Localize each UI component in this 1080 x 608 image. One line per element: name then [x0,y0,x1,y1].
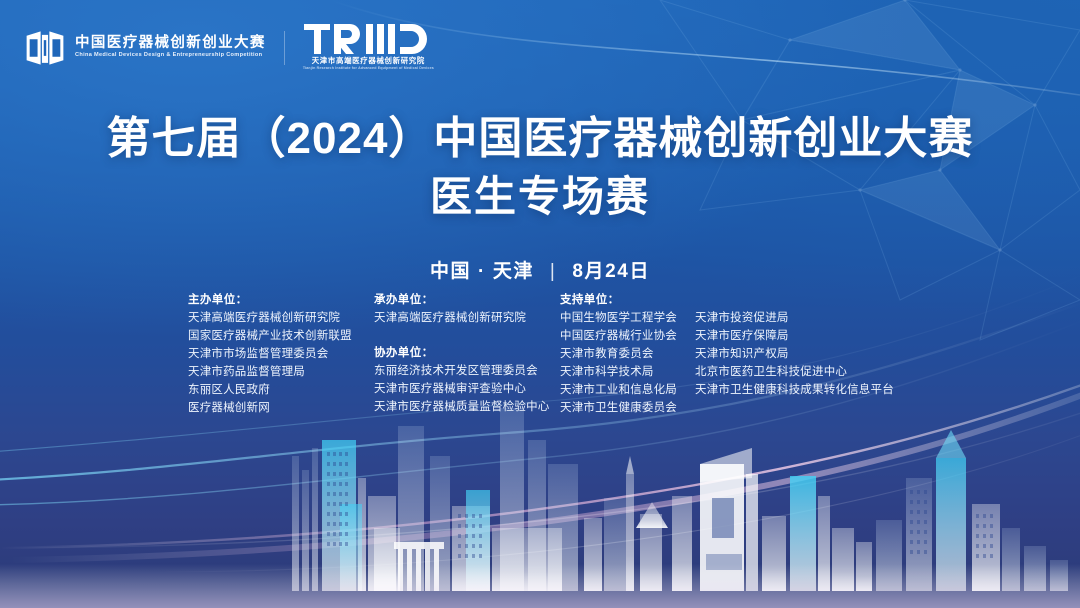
dateline-date: 8月24日 [572,261,650,282]
organizer-item: 天津市工业和信息化局 [560,381,695,399]
organizer-group: 承办单位： 天津高端医疗器械创新研究院 [374,291,560,327]
organizer-heading: 主办单位： [188,291,374,309]
title-line-1: 第七届（2024）中国医疗器械创新创业大赛 [0,112,1080,166]
organizer-group: 天津市投资促进局 天津市医疗保障局 天津市知识产权局 北京市医药卫生科技促进中心… [695,291,894,399]
organizer-heading-spacer [695,291,894,309]
organizer-item: 东丽经济技术开发区管理委员会 [374,362,560,380]
organizer-item: 天津高端医疗器械创新研究院 [374,309,560,327]
organizer-item: 天津市卫生健康科技成果转化信息平台 [695,381,894,399]
organizer-item: 天津市知识产权局 [695,345,894,363]
organizer-item: 天津市市场监督管理委员会 [188,345,374,363]
poster-canvas: 中国医疗器械创新创业大赛 China Medical Devices Desig… [0,0,1080,608]
open-door-book-icon [24,27,66,69]
logo-primary-en: China Medical Devices Design & Entrepren… [75,53,266,59]
organizer-item: 中国生物医学工程学会 [560,309,695,327]
organizer-column-2: 承办单位： 天津高端医疗器械创新研究院 协办单位： 东丽经济技术开发区管理委员会… [374,291,560,416]
organizer-item: 医疗器械创新网 [188,399,374,417]
organizer-column-1: 主办单位： 天津高端医疗器械创新研究院 国家医疗器械产业技术创新联盟 天津市市场… [188,291,374,417]
logo-divider [284,31,285,65]
dateline-location: 中国 · 天津 [430,261,534,282]
organizer-item: 天津市教育委员会 [560,345,695,363]
logo-secondary-cn: 天津市高端医疗器械创新研究院 [312,57,425,64]
triid-wordmark-icon [304,24,432,54]
organizer-item: 天津市医疗保障局 [695,327,894,345]
organizers-block: 主办单位： 天津高端医疗器械创新研究院 国家医疗器械产业技术创新联盟 天津市市场… [188,291,894,417]
organizer-column-3: 支持单位： 中国生物医学工程学会 中国医疗器械行业协会 天津市教育委员会 天津市… [560,291,695,417]
organizer-group: 主办单位： 天津高端医疗器械创新研究院 国家医疗器械产业技术创新联盟 天津市市场… [188,291,374,417]
organizer-item: 北京市医药卫生科技促进中心 [695,363,894,381]
organizer-item: 天津市药品监督管理局 [188,363,374,381]
logo-primary-cn: 中国医疗器械创新创业大赛 [75,36,266,51]
dateline-separator: | [550,261,557,283]
organizer-heading: 支持单位： [560,291,695,309]
organizer-item: 天津高端医疗器械创新研究院 [188,309,374,327]
organizer-item: 中国医疗器械行业协会 [560,327,695,345]
logo-secondary-en: Tianjin Research Institute for Advanced … [303,67,434,71]
organizer-item: 天津市医疗器械审评查验中心 [374,380,560,398]
header-logos: 中国医疗器械创新创业大赛 China Medical Devices Desig… [24,24,434,71]
organizer-item: 天津市卫生健康委员会 [560,399,695,417]
logo-china-medical-devices-competition[interactable]: 中国医疗器械创新创业大赛 China Medical Devices Desig… [24,27,266,69]
organizer-item: 天津市医疗器械质量监督检验中心 [374,398,560,416]
poster-title-block: 第七届（2024）中国医疗器械创新创业大赛 医生专场赛 [0,112,1080,223]
organizer-heading: 承办单位： [374,291,560,309]
organizer-group: 协办单位： 东丽经济技术开发区管理委员会 天津市医疗器械审评查验中心 天津市医疗… [374,344,560,416]
organizer-column-4: 天津市投资促进局 天津市医疗保障局 天津市知识产权局 北京市医药卫生科技促进中心… [695,291,894,399]
title-line-2: 医生专场赛 [0,170,1080,224]
organizer-heading: 协办单位： [374,344,560,362]
organizer-group: 支持单位： 中国生物医学工程学会 中国医疗器械行业协会 天津市教育委员会 天津市… [560,291,695,417]
organizer-item: 东丽区人民政府 [188,381,374,399]
organizer-item: 天津市投资促进局 [695,309,894,327]
organizer-item: 国家医疗器械产业技术创新联盟 [188,327,374,345]
dateline: 中国 · 天津 | 8月24日 [0,256,1080,283]
organizer-item: 天津市科学技术局 [560,363,695,381]
logo-triid[interactable]: 天津市高端医疗器械创新研究院 Tianjin Research Institut… [303,24,434,71]
